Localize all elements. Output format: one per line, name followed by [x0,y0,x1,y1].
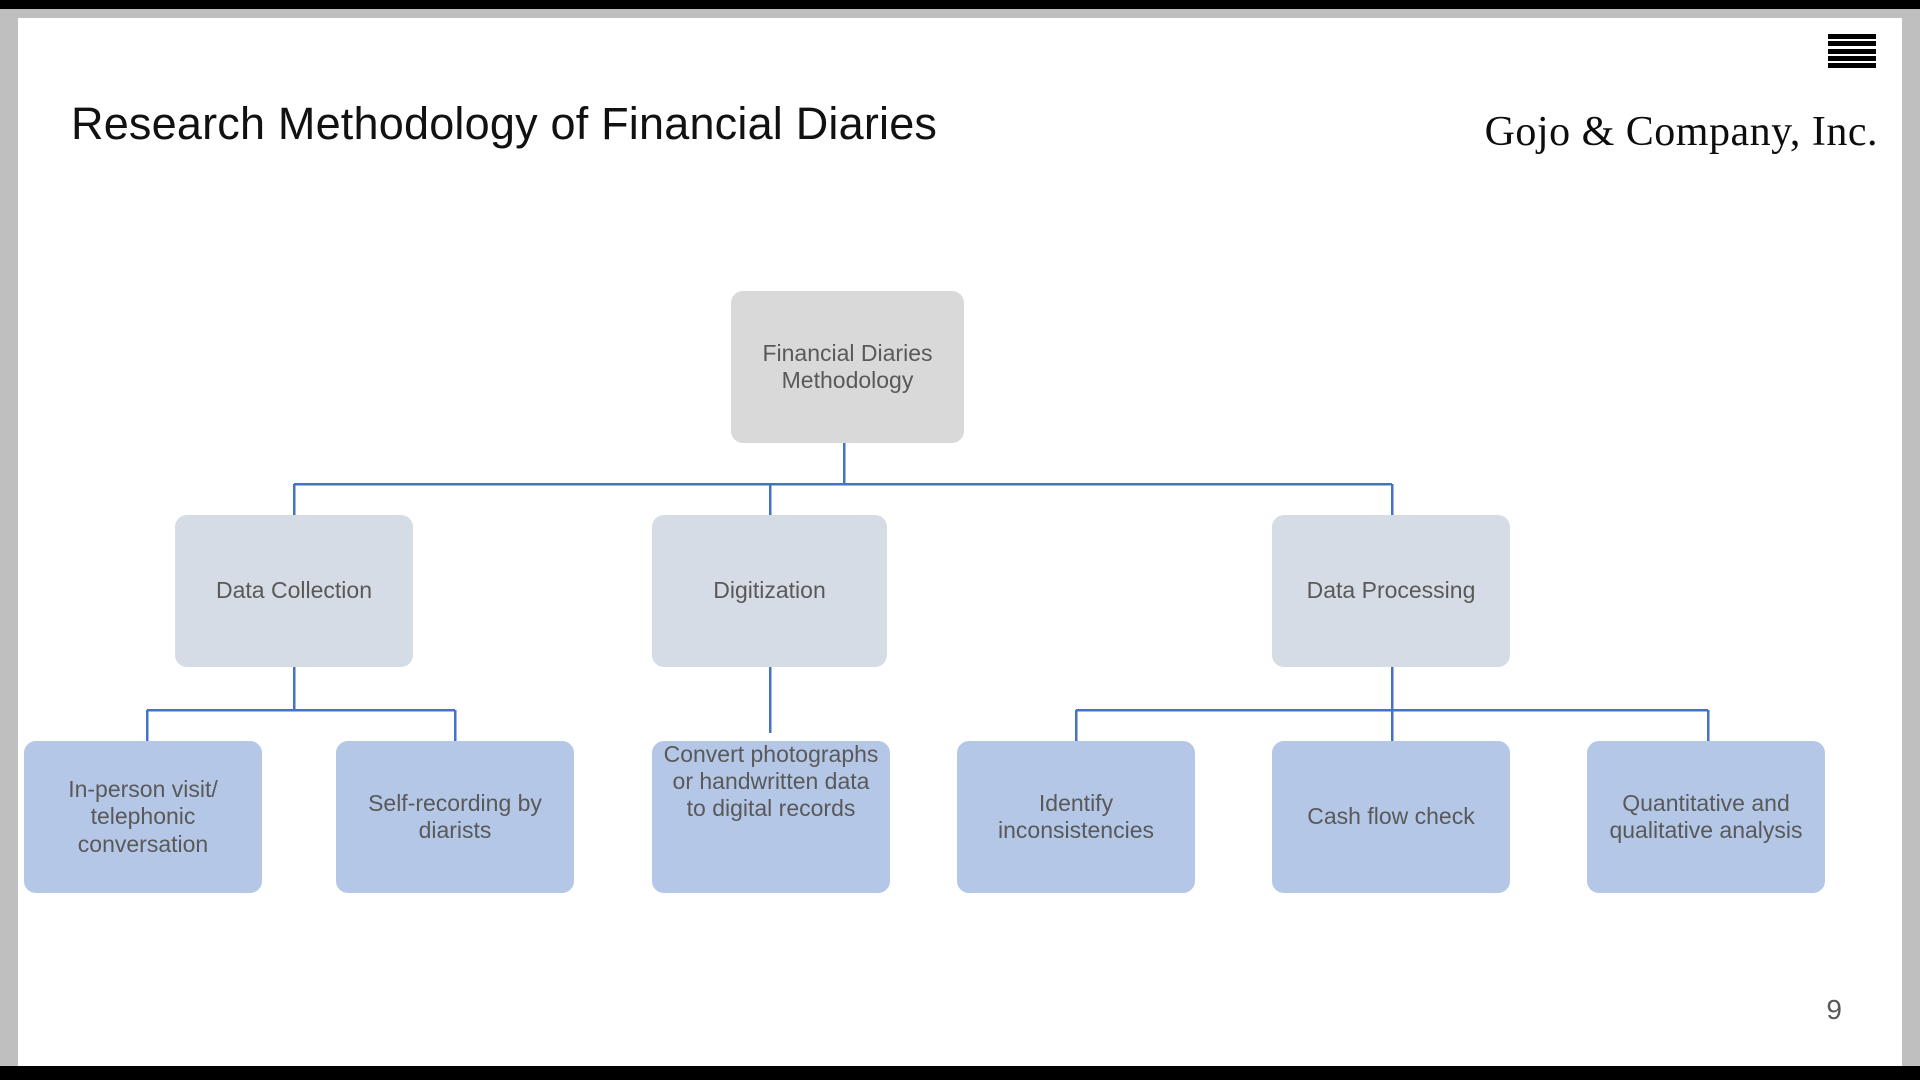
node-cash-flow-check[interactable]: Cash flow check [1272,741,1510,893]
node-self-recording[interactable]: Self-recording by diarists [336,741,574,893]
node-in-person-visit[interactable]: In-person visit/ telephonic conversation [24,741,262,893]
node-convert-records[interactable]: Convert photographs or handwritten data … [652,741,890,893]
top-black-bar [0,0,1920,9]
node-financial-diaries-methodology[interactable]: Financial Diaries Methodology [731,291,964,443]
node-quant-qual-analysis[interactable]: Quantitative and qualitative analysis [1587,741,1825,893]
org-chart: Financial Diaries Methodology Data Colle… [18,18,1902,1066]
slide-root: Research Methodology of Financial Diarie… [0,0,1920,1080]
page-number: 9 [1826,994,1842,1026]
node-data-processing[interactable]: Data Processing [1272,515,1510,667]
bottom-black-bar [0,1066,1920,1080]
slide-frame: Research Methodology of Financial Diarie… [0,9,1920,1066]
slide-canvas: Research Methodology of Financial Diarie… [18,18,1902,1066]
node-identify-inconsistencies[interactable]: Identify inconsistencies [957,741,1195,893]
node-data-collection[interactable]: Data Collection [175,515,413,667]
node-digitization[interactable]: Digitization [652,515,887,667]
